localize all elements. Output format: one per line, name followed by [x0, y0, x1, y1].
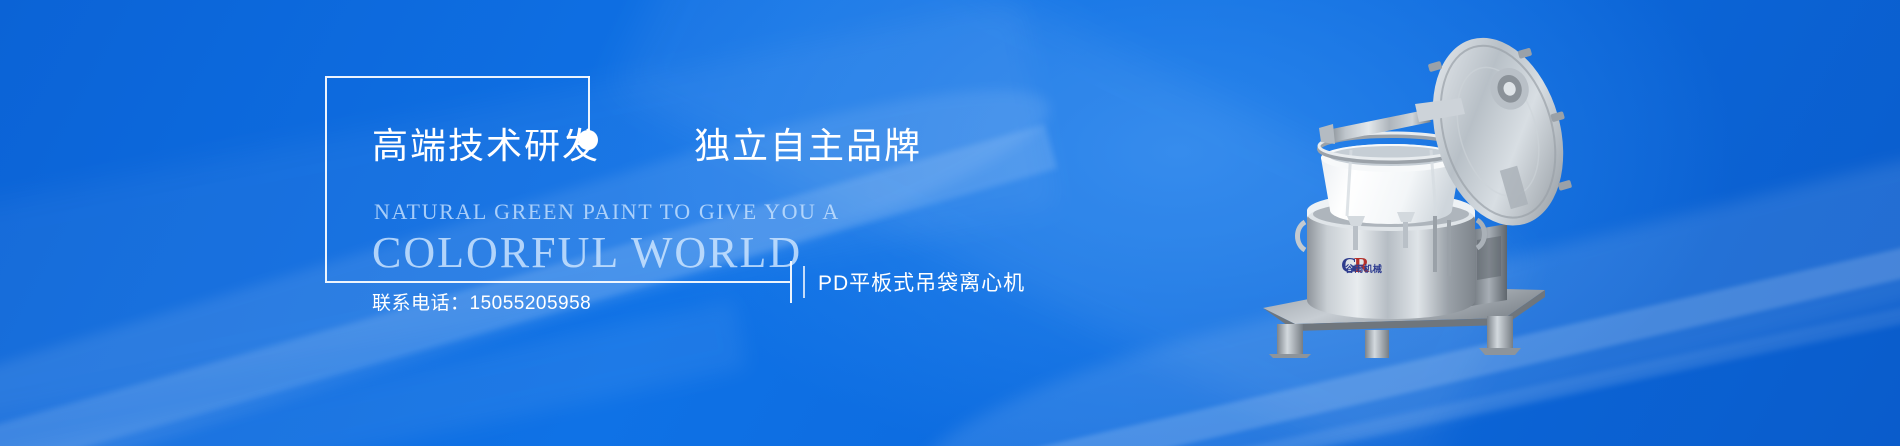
contact-phone-text: 联系电话：15055205958 [372, 288, 591, 315]
caption-tick-short [803, 266, 805, 298]
headline-right-text: 独立自主品牌 [694, 125, 922, 166]
machine-logo-label: 谷雨机械 [1345, 262, 1382, 275]
centrifuge-illustration: G R [1255, 18, 1615, 358]
centrifuge-machine-image: G R [1255, 18, 1615, 358]
frame-bottom-rule [325, 281, 790, 283]
caption-tick-long [790, 261, 792, 303]
promo-banner: 高端技术研发 独立自主品牌 NATURAL GREEN PAINT TO GIV… [0, 0, 1900, 446]
machine-control-box [1471, 224, 1507, 306]
banner-title-english: COLORFUL WORLD [372, 227, 802, 278]
banner-headline: 高端技术研发 独立自主品牌 [372, 117, 922, 169]
headline-left-text: 高端技术研发 [372, 125, 600, 166]
product-caption: PD平板式吊袋离心机 [818, 267, 1025, 297]
banner-subtitle-english: NATURAL GREEN PAINT TO GIVE YOU A [374, 199, 840, 225]
background-streak-7 [0, 299, 747, 446]
